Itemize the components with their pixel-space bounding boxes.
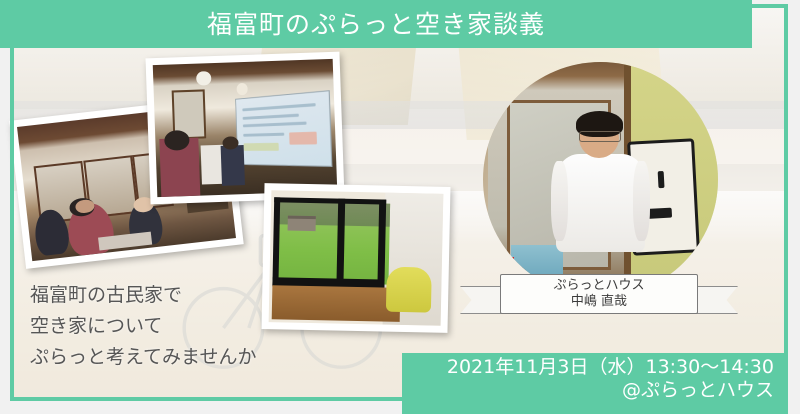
title-banner: 福富町のぷらっと空き家談義 <box>0 0 752 48</box>
catch-copy: 福富町の古民家で 空き家について ぷらっと考えてみませんか <box>30 280 256 372</box>
projection-screen <box>235 90 332 166</box>
photo-presentation-image <box>153 59 337 197</box>
ribbon-plate: ぷらっとハウス 中嶋 直哉 <box>500 274 698 314</box>
photo-window-image <box>269 190 444 326</box>
catch-copy-line-1: 福富町の古民家で <box>30 280 256 311</box>
event-datetime: 2021年11月3日（水）13:30〜14:30 <box>402 356 774 379</box>
catch-copy-line-2: 空き家について <box>30 311 256 342</box>
page-title: 福富町のぷらっと空き家談義 <box>207 12 545 37</box>
portrait-speaker <box>483 62 718 297</box>
event-venue: @ぷらっとハウス <box>402 379 774 402</box>
speaker-name-ribbon: ぷらっとハウス 中嶋 直哉 <box>500 274 698 314</box>
catch-copy-line-3: ぷらっと考えてみませんか <box>30 342 256 373</box>
photo-presentation <box>146 52 345 205</box>
speaker-organization: ぷらっとハウス <box>553 278 644 294</box>
event-info-bar: 2021年11月3日（水）13:30〜14:30 @ぷらっとハウス <box>402 353 788 414</box>
photo-window <box>261 183 450 333</box>
speaker-name: 中嶋 直哉 <box>571 294 627 310</box>
poster-root: ぷらっとハウス 中嶋 直哉 福富町の古民家で 空き家について ぷらっと考えてみま… <box>0 0 800 414</box>
